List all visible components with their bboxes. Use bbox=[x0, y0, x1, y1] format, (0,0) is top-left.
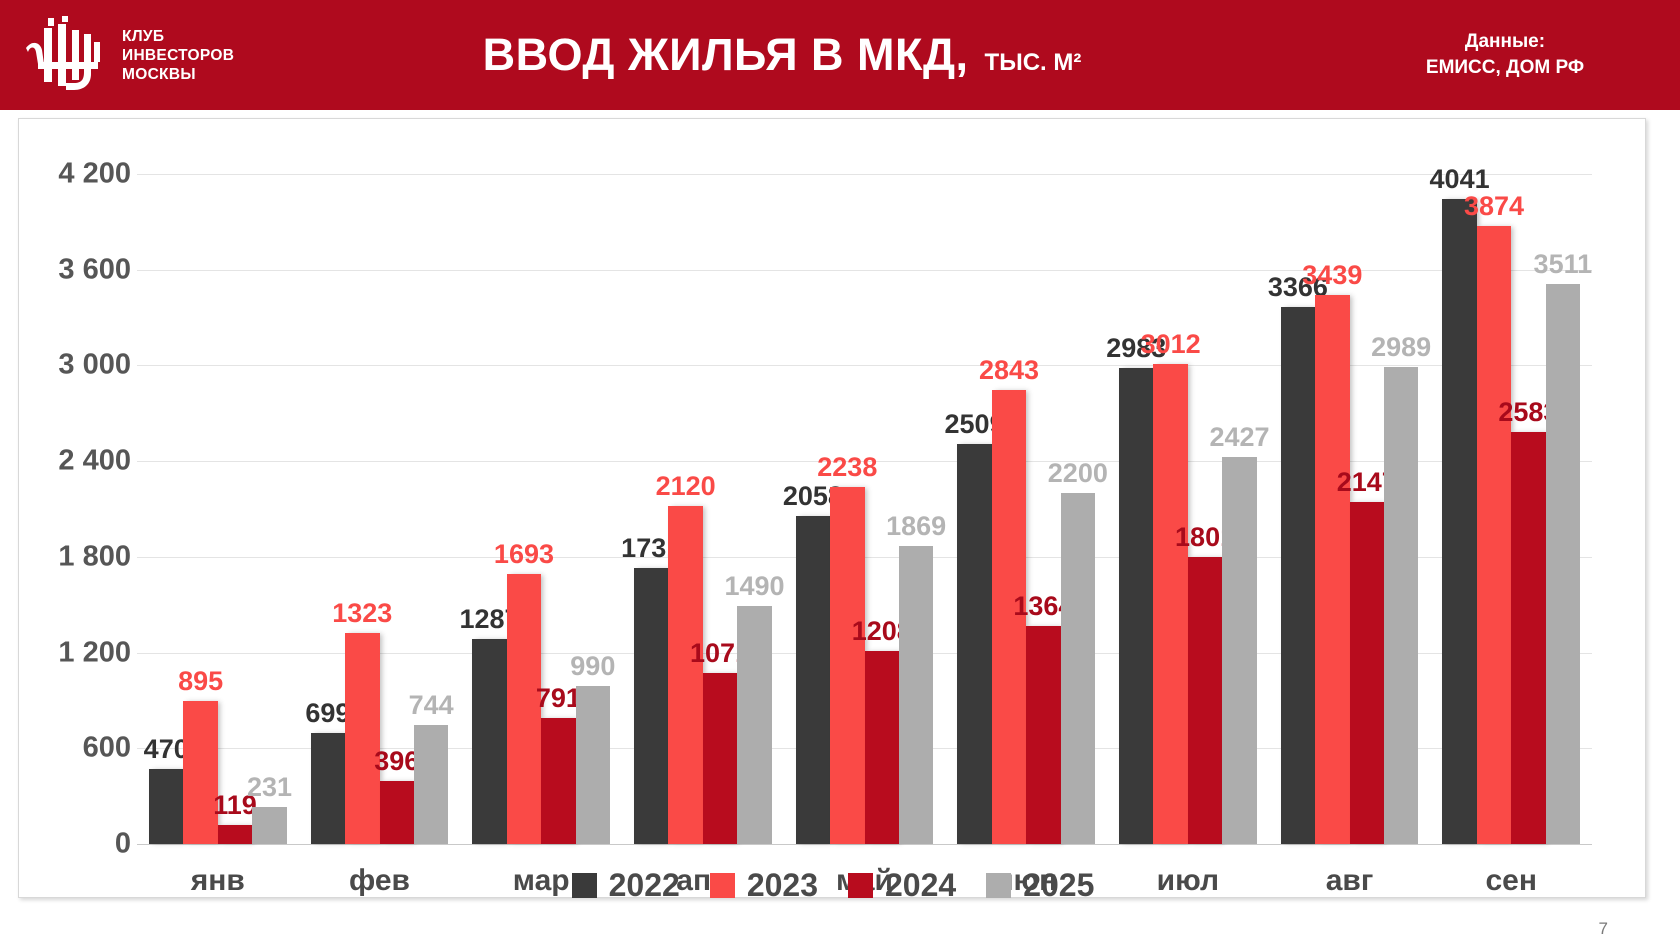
bar-2025-июл[interactable] bbox=[1222, 457, 1256, 844]
page-number: 7 bbox=[1599, 919, 1608, 939]
bar-2025-июн[interactable] bbox=[1061, 493, 1095, 844]
gridline bbox=[137, 844, 1592, 845]
bar-group-bars: 2509284313642200 bbox=[945, 174, 1107, 844]
y-axis-tick-label: 600 bbox=[11, 732, 131, 765]
bar-2024-июл[interactable] bbox=[1188, 557, 1222, 844]
bar-group: 1731212010711490апр bbox=[622, 174, 784, 844]
bar-group-bars: 4041387425833511 bbox=[1430, 174, 1592, 844]
bar-2023-май[interactable] bbox=[830, 487, 864, 844]
bar-slot: 3511 bbox=[1546, 174, 1580, 844]
bar-slot: 2120 bbox=[668, 174, 702, 844]
bar-2022-фев[interactable] bbox=[311, 733, 345, 845]
bar-2023-апр[interactable] bbox=[668, 506, 702, 844]
legend-swatch-icon bbox=[710, 873, 735, 898]
bar-group: 4041387425833511сен bbox=[1430, 174, 1592, 844]
bar-value-label: 2427 bbox=[1209, 424, 1269, 451]
bar-2025-авг[interactable] bbox=[1384, 367, 1418, 844]
bar-slot: 2509 bbox=[957, 174, 991, 844]
y-axis-tick-label: 4 200 bbox=[11, 158, 131, 191]
bar-2022-апр[interactable] bbox=[634, 568, 668, 844]
bar-2022-май[interactable] bbox=[796, 516, 830, 844]
legend-item-2023[interactable]: 2023 bbox=[710, 867, 818, 904]
y-axis-tick-label: 3 600 bbox=[11, 253, 131, 286]
y-axis-tick-label: 1 200 bbox=[11, 636, 131, 669]
bar-2025-сен[interactable] bbox=[1546, 284, 1580, 844]
bar-value-label: 470 bbox=[144, 736, 189, 763]
bar-groups: 470895119231янв6991323396744фев128716937… bbox=[137, 174, 1592, 844]
bar-slot: 3439 bbox=[1315, 174, 1349, 844]
bar-slot: 2989 bbox=[1384, 174, 1418, 844]
bar-slot: 2983 bbox=[1119, 174, 1153, 844]
bar-2023-авг[interactable] bbox=[1315, 295, 1349, 844]
bar-slot: 2843 bbox=[992, 174, 1026, 844]
bar-slot: 1869 bbox=[899, 174, 933, 844]
bar-value-label: 396 bbox=[374, 748, 419, 775]
bar-value-label: 699 bbox=[305, 700, 350, 727]
data-source-label: Данные: bbox=[1340, 29, 1670, 55]
bar-group-bars: 6991323396744 bbox=[299, 174, 461, 844]
bar-slot: 231 bbox=[252, 174, 286, 844]
bar-slot: 470 bbox=[149, 174, 183, 844]
bar-slot: 895 bbox=[183, 174, 217, 844]
bar-value-label: 1490 bbox=[724, 573, 784, 600]
bar-2022-мар[interactable] bbox=[472, 639, 506, 844]
bar-2024-янв[interactable] bbox=[218, 825, 252, 844]
bar-2025-фев[interactable] bbox=[414, 725, 448, 844]
bar-slot: 791 bbox=[541, 174, 575, 844]
bar-group: 470895119231янв bbox=[137, 174, 299, 844]
bar-group: 12871693791990мар bbox=[460, 174, 622, 844]
bar-value-label: 2200 bbox=[1048, 460, 1108, 487]
bar-slot: 3874 bbox=[1477, 174, 1511, 844]
bar-slot: 2238 bbox=[830, 174, 864, 844]
bar-2023-фев[interactable] bbox=[345, 633, 379, 844]
bar-2022-июн[interactable] bbox=[957, 444, 991, 844]
bar-2022-авг[interactable] bbox=[1281, 307, 1315, 844]
y-axis-tick-label: 1 800 bbox=[11, 540, 131, 573]
bar-value-label: 895 bbox=[178, 668, 223, 695]
bar-slot: 1287 bbox=[472, 174, 506, 844]
chart-panel: 06001 2001 8002 4003 0003 6004 200 47089… bbox=[18, 118, 1646, 898]
bar-slot: 3012 bbox=[1153, 174, 1187, 844]
brand-line-1: КЛУБ bbox=[122, 27, 234, 46]
bar-2023-июл[interactable] bbox=[1153, 364, 1187, 844]
bar-2025-мар[interactable] bbox=[576, 686, 610, 844]
legend-label: 2023 bbox=[747, 867, 818, 904]
bar-slot: 1801 bbox=[1188, 174, 1222, 844]
bar-slot: 119 bbox=[218, 174, 252, 844]
bar-slot: 4041 bbox=[1442, 174, 1476, 844]
data-source-value: ЕМИСС, ДОМ РФ bbox=[1340, 55, 1670, 81]
bar-group-bars: 2058223812081869 bbox=[784, 174, 946, 844]
bar-group-bars: 470895119231 bbox=[137, 174, 299, 844]
bar-slot: 2200 bbox=[1061, 174, 1095, 844]
legend-item-2025[interactable]: 2025 bbox=[986, 867, 1094, 904]
bar-2025-апр[interactable] bbox=[737, 606, 771, 844]
bar-2024-фев[interactable] bbox=[380, 781, 414, 844]
bar-2024-сен[interactable] bbox=[1511, 432, 1545, 844]
brand-line-3: МОСКВЫ bbox=[122, 65, 234, 84]
legend-swatch-icon bbox=[986, 873, 1011, 898]
bar-value-label: 791 bbox=[536, 685, 581, 712]
bar-group: 3366343921472989авг bbox=[1269, 174, 1431, 844]
bar-slot: 2147 bbox=[1350, 174, 1384, 844]
bar-group-bars: 12871693791990 bbox=[460, 174, 622, 844]
bar-2023-янв[interactable] bbox=[183, 701, 217, 844]
legend-swatch-icon bbox=[848, 873, 873, 898]
bar-2024-мар[interactable] bbox=[541, 718, 575, 844]
title-units: ТЫС. М² bbox=[985, 49, 1082, 77]
bar-2024-апр[interactable] bbox=[703, 673, 737, 844]
bar-slot: 396 bbox=[380, 174, 414, 844]
bar-value-label: 3511 bbox=[1534, 251, 1593, 278]
data-source: Данные: ЕМИСС, ДОМ РФ bbox=[1340, 29, 1670, 81]
bar-value-label: 990 bbox=[570, 653, 615, 680]
brand-line-2: ИНВЕСТОРОВ bbox=[122, 46, 234, 65]
bar-group-bars: 1731212010711490 bbox=[622, 174, 784, 844]
bar-slot: 990 bbox=[576, 174, 610, 844]
bar-slot: 1731 bbox=[634, 174, 668, 844]
bar-group: 6991323396744фев bbox=[299, 174, 461, 844]
bar-group: 2983301218012427июл bbox=[1107, 174, 1269, 844]
plot-area: 06001 2001 8002 4003 0003 6004 200 47089… bbox=[137, 174, 1592, 844]
bar-2024-авг[interactable] bbox=[1350, 502, 1384, 844]
bar-slot: 1323 bbox=[345, 174, 379, 844]
bar-slot: 744 bbox=[414, 174, 448, 844]
header-bar: КЛУБ ИНВЕСТОРОВ МОСКВЫ ВВОД ЖИЛЬЯ В МКД,… bbox=[0, 0, 1680, 110]
title-container: ВВОД ЖИЛЬЯ В МКД, ТЫС. М² bbox=[224, 29, 1340, 81]
bar-2022-янв[interactable] bbox=[149, 769, 183, 844]
bar-group-bars: 2983301218012427 bbox=[1107, 174, 1269, 844]
bar-slot: 2058 bbox=[796, 174, 830, 844]
legend-item-2024[interactable]: 2024 bbox=[848, 867, 956, 904]
bar-value-label: 2989 bbox=[1371, 334, 1431, 361]
bar-2025-май[interactable] bbox=[899, 546, 933, 844]
y-axis-tick-label: 2 400 bbox=[11, 445, 131, 478]
bar-slot: 2427 bbox=[1222, 174, 1256, 844]
brand-wordmark: КЛУБ ИНВЕСТОРОВ МОСКВЫ bbox=[122, 27, 234, 84]
y-axis-tick-label: 0 bbox=[11, 828, 131, 861]
legend-swatch-icon bbox=[572, 873, 597, 898]
chart-legend: 2022202320242025 bbox=[19, 867, 1647, 904]
legend-label: 2025 bbox=[1023, 867, 1094, 904]
page-title: ВВОД ЖИЛЬЯ В МКД, bbox=[483, 29, 969, 81]
bar-2022-сен[interactable] bbox=[1442, 199, 1476, 844]
bar-2022-июл[interactable] bbox=[1119, 368, 1153, 844]
slide-root: КЛУБ ИНВЕСТОРОВ МОСКВЫ ВВОД ЖИЛЬЯ В МКД,… bbox=[0, 0, 1680, 945]
bar-slot: 1071 bbox=[703, 174, 737, 844]
bar-slot: 1693 bbox=[507, 174, 541, 844]
bar-value-label: 1869 bbox=[886, 513, 946, 540]
bar-slot: 699 bbox=[311, 174, 345, 844]
y-axis-tick-label: 3 000 bbox=[11, 349, 131, 382]
bar-2025-янв[interactable] bbox=[252, 807, 286, 844]
legend-label: 2024 bbox=[885, 867, 956, 904]
bar-group: 2058223812081869май bbox=[784, 174, 946, 844]
bar-slot: 1364 bbox=[1026, 174, 1060, 844]
bar-group: 2509284313642200июн bbox=[945, 174, 1107, 844]
bar-slot: 1208 bbox=[865, 174, 899, 844]
bar-group-bars: 3366343921472989 bbox=[1269, 174, 1431, 844]
bar-value-label: 231 bbox=[247, 774, 292, 801]
legend-label: 2022 bbox=[609, 867, 680, 904]
bar-slot: 1490 bbox=[737, 174, 771, 844]
bar-value-label: 744 bbox=[409, 692, 454, 719]
bar-2023-сен[interactable] bbox=[1477, 226, 1511, 844]
bar-2024-июн[interactable] bbox=[1026, 626, 1060, 844]
bar-2024-май[interactable] bbox=[865, 651, 899, 844]
club-monogram-icon bbox=[14, 12, 112, 98]
legend-item-2022[interactable]: 2022 bbox=[572, 867, 680, 904]
